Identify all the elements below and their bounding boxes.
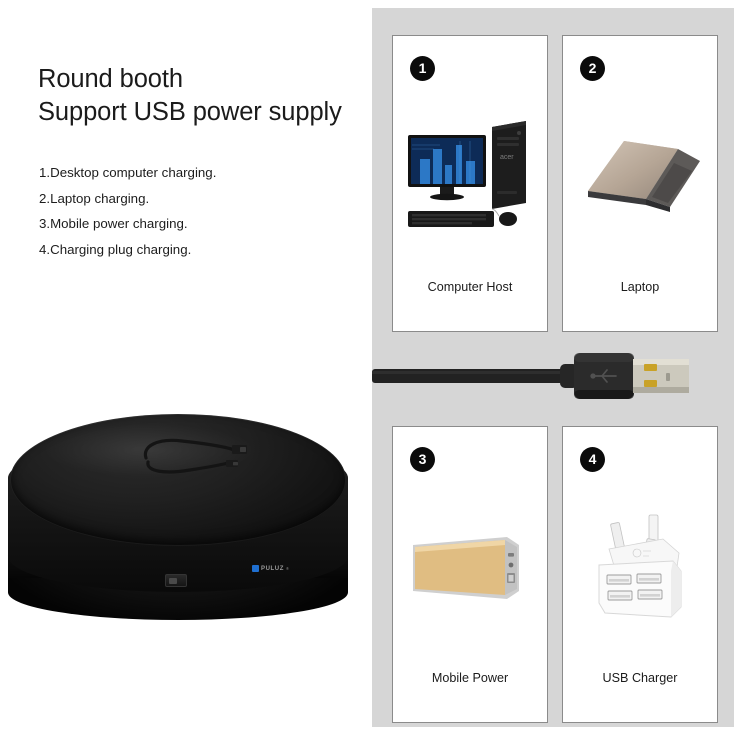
usb-a-connector-icon xyxy=(372,337,734,417)
feature-list: 1.Desktop computer charging. 2.Laptop ch… xyxy=(39,160,359,262)
brand-logo: PULUZ ® xyxy=(252,565,289,572)
coiled-usb-cable-icon xyxy=(140,432,252,480)
svg-text:acer: acer xyxy=(500,154,514,161)
card-label: Laptop xyxy=(563,280,717,294)
usb-wall-charger-icon xyxy=(563,493,717,643)
card-label: Computer Host xyxy=(393,280,547,294)
scenario-card-mobile-power[interactable]: 3 Mobile Power xyxy=(392,426,548,723)
feature-item: 3.Mobile power charging. xyxy=(39,211,359,237)
brand-mark-icon xyxy=(252,565,259,572)
desktop-computer-icon: acer xyxy=(393,102,547,252)
feature-item: 1.Desktop computer charging. xyxy=(39,160,359,186)
card-label: Mobile Power xyxy=(393,671,547,685)
power-bank-icon xyxy=(393,493,547,643)
product-infographic: Round booth Support USB power supply 1.D… xyxy=(0,0,750,750)
scenario-card-laptop[interactable]: 2 xyxy=(562,35,718,332)
brand-name: PULUZ xyxy=(261,566,284,572)
card-number-badge: 1 xyxy=(410,56,435,81)
scenario-card-usb-charger[interactable]: 4 xyxy=(562,426,718,723)
card-number-badge: 2 xyxy=(580,56,605,81)
card-number-badge: 4 xyxy=(580,447,605,472)
card-label: USB Charger xyxy=(563,671,717,685)
feature-item: 2.Laptop charging. xyxy=(39,186,359,212)
laptop-icon xyxy=(563,102,717,252)
brand-trademark: ® xyxy=(286,566,289,571)
left-content-column: Round booth Support USB power supply 1.D… xyxy=(0,0,372,750)
feature-item: 4.Charging plug charging. xyxy=(39,237,359,263)
power-switch[interactable] xyxy=(165,574,187,587)
headline-block: Round booth Support USB power supply xyxy=(38,63,368,129)
card-number-badge: 3 xyxy=(410,447,435,472)
headline-line-1: Round booth xyxy=(38,63,368,96)
scenario-card-computer-host[interactable]: 1 xyxy=(392,35,548,332)
headline-line-2: Support USB power supply xyxy=(38,96,368,129)
